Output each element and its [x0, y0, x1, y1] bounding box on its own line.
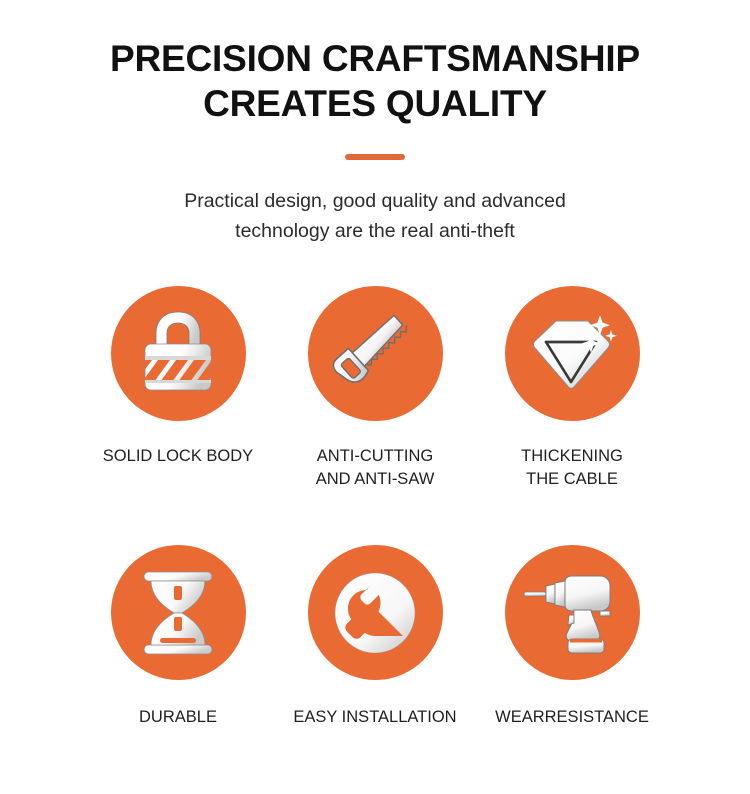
header: PRECISION CRAFTSMANSHIP CREATES QUALITY … [0, 36, 750, 246]
feature-label: DURABLE [83, 706, 273, 729]
feature-icon-badge [505, 545, 640, 680]
page-title: PRECISION CRAFTSMANSHIP CREATES QUALITY [0, 36, 750, 126]
feature-label: ANTI-CUTTING AND ANTI-SAW [280, 445, 470, 491]
feature-icon-badge [308, 545, 443, 680]
wrench-icon [325, 563, 425, 663]
feature-row-2: DURABLE [0, 545, 750, 729]
feature-icon-badge [111, 286, 246, 421]
feature-label: SOLID LOCK BODY [83, 445, 273, 468]
divider-bar [345, 154, 405, 160]
feature-icon-badge [111, 545, 246, 680]
diamond-sparkle-icon [526, 309, 618, 399]
page-subtitle: Practical design, good quality and advan… [0, 186, 750, 246]
feature-grid: SOLID LOCK BODY [0, 286, 750, 729]
feature-item-durable: DURABLE [111, 545, 246, 729]
feature-item-easy-installation: EASY INSTALLATION [308, 545, 443, 729]
feature-item-anti-cutting: ANTI-CUTTING AND ANTI-SAW [308, 286, 443, 491]
padlock-icon [136, 310, 220, 398]
feature-icon-badge [308, 286, 443, 421]
feature-item-thickening-cable: THICKENING THE CABLE [505, 286, 640, 491]
feature-label: THICKENING THE CABLE [477, 445, 667, 491]
feature-item-solid-lock-body: SOLID LOCK BODY [111, 286, 246, 491]
hourglass-icon [138, 569, 218, 657]
feature-item-wear-resistance: WEARRESISTANCE [505, 545, 640, 729]
feature-row-1: SOLID LOCK BODY [0, 286, 750, 491]
power-drill-icon [522, 569, 622, 657]
feature-highlights-banner: PRECISION CRAFTSMANSHIP CREATES QUALITY … [0, 0, 750, 794]
handsaw-icon [329, 308, 421, 400]
feature-label: WEARRESISTANCE [477, 706, 667, 729]
feature-label: EASY INSTALLATION [280, 706, 470, 729]
divider [0, 153, 750, 161]
feature-icon-badge [505, 286, 640, 421]
